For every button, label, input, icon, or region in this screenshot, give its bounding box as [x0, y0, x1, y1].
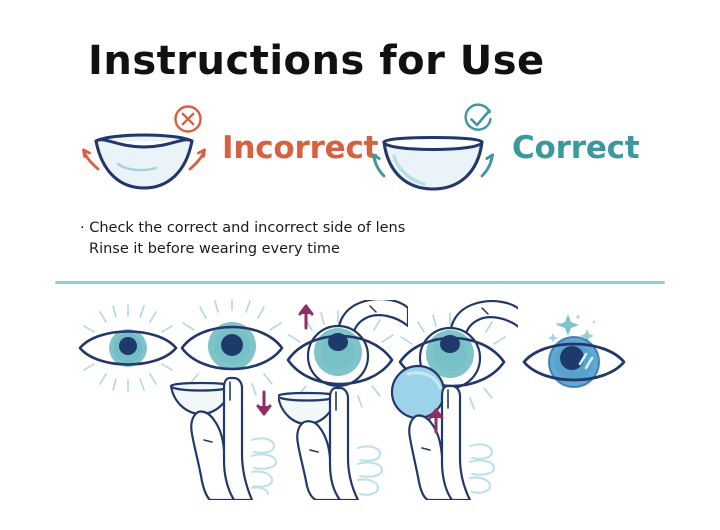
instruction-notes: · Check the correct and incorrect side o…	[80, 218, 500, 260]
pupil	[221, 334, 243, 356]
page-title: Instructions for Use	[88, 38, 545, 84]
correct-lens-illustration	[372, 100, 522, 200]
step-5-lens-in-place	[508, 300, 638, 500]
instruction-poster: Instructions for Use	[0, 0, 720, 530]
lens-on-finger	[171, 383, 231, 414]
eye-shape	[182, 322, 282, 370]
pupil	[560, 346, 584, 370]
circle-check-icon	[466, 105, 491, 130]
step-4-place-lens	[388, 300, 518, 500]
note-line-2: Rinse it before wearing every time	[89, 241, 340, 257]
eye-lens-placement-icon	[388, 300, 518, 500]
eye-shape	[288, 326, 392, 386]
eye-shape	[524, 337, 624, 387]
down-arrow	[258, 392, 270, 414]
lens-body	[384, 138, 482, 190]
correct-label: Correct	[512, 130, 639, 166]
lens-body	[96, 135, 192, 188]
note-line-1: Check the correct and incorrect side of …	[89, 220, 405, 236]
eye-sparkle-icon	[508, 300, 638, 500]
section-divider	[55, 281, 665, 284]
application-steps	[40, 300, 680, 500]
incorrect-label: Incorrect	[222, 130, 378, 166]
everted-lens-illustration	[82, 100, 232, 200]
note-bullet: ·	[80, 220, 85, 236]
pupil	[119, 337, 137, 355]
up-arrow	[300, 306, 312, 328]
lens-on-finger	[278, 393, 336, 424]
eye-shape	[80, 329, 176, 367]
folded-fingers	[252, 438, 276, 494]
folded-fingers	[358, 446, 382, 494]
folded-fingers	[470, 444, 494, 492]
lens-orientation-comparison: Incorrect	[0, 100, 720, 200]
circle-x-icon	[176, 107, 201, 132]
